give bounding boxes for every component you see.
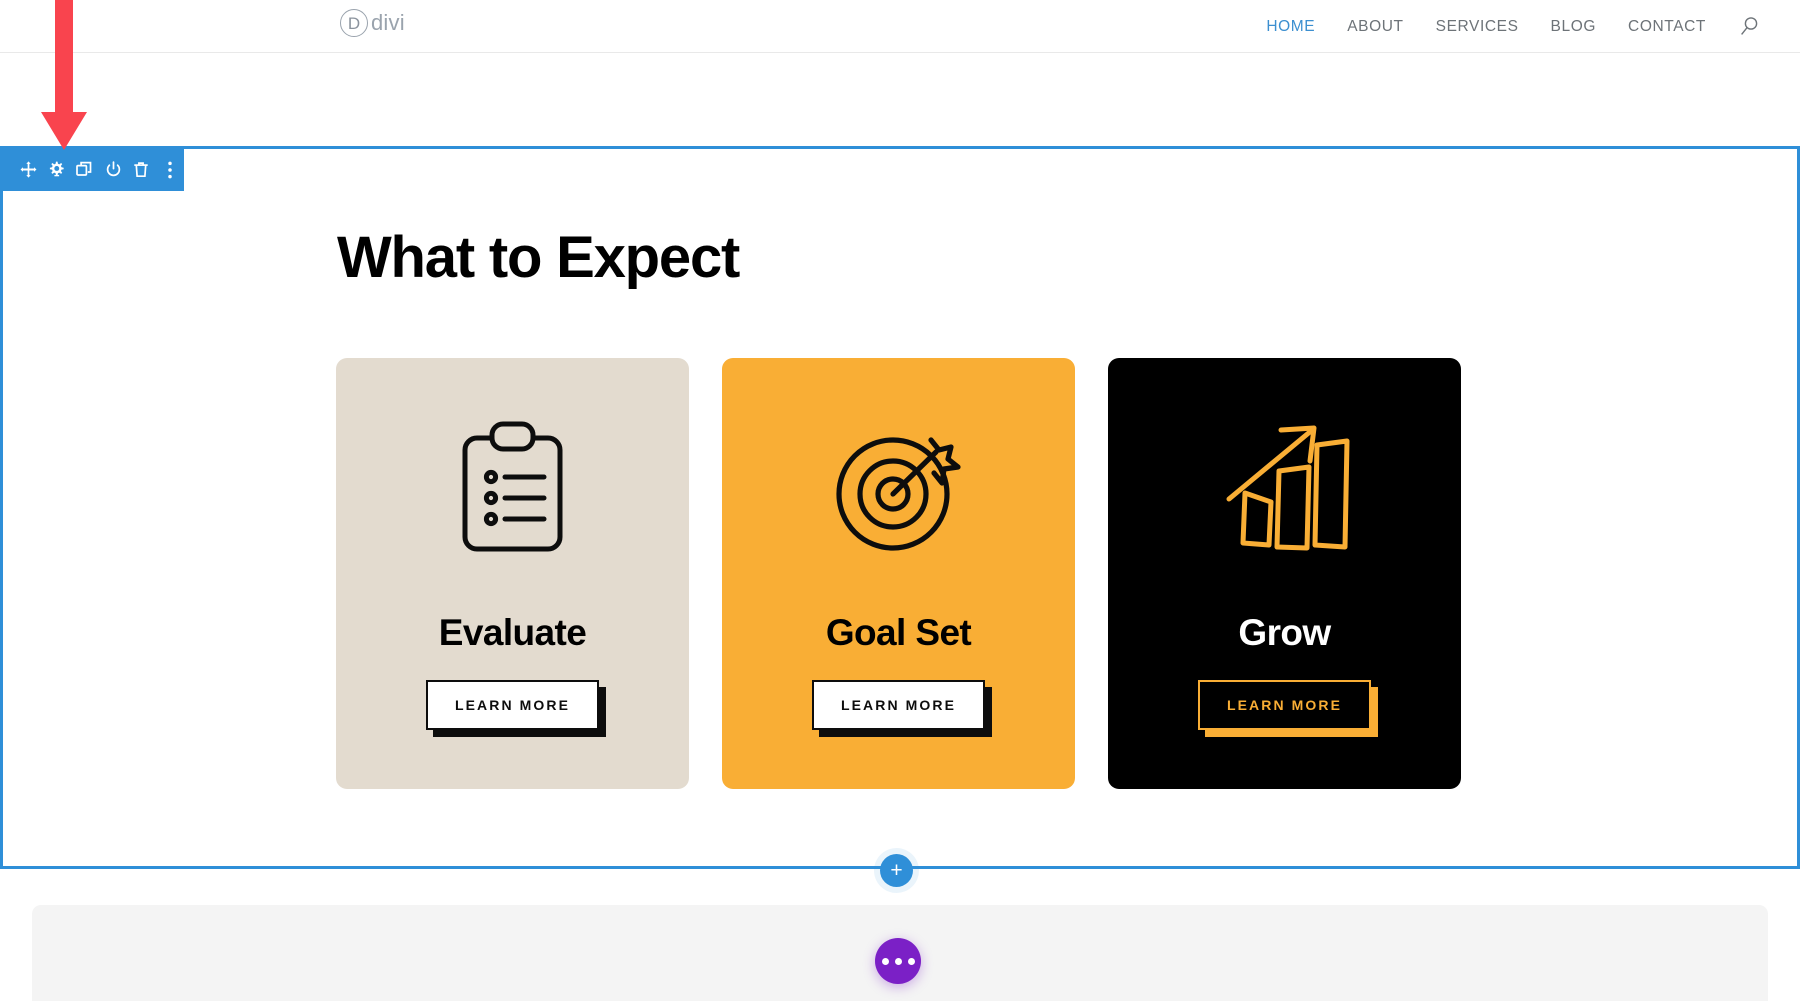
nav-item-contact[interactable]: CONTACT (1612, 18, 1722, 36)
card-evaluate[interactable]: Evaluate LEARN MORE (336, 358, 689, 789)
move-icon[interactable] (14, 148, 42, 191)
page-title: What to Expect (337, 226, 739, 290)
main-navigation: HOME ABOUT SERVICES BLOG CONTACT (1250, 0, 1772, 53)
clipboard-checklist-icon (455, 414, 570, 564)
learn-more-button[interactable]: LEARN MORE (426, 680, 599, 730)
target-arrow-icon (831, 414, 966, 564)
nav-item-services[interactable]: SERVICES (1420, 18, 1535, 36)
nav-item-about[interactable]: ABOUT (1331, 18, 1419, 36)
add-section-button[interactable]: + (880, 854, 913, 887)
divi-logo[interactable]: D divi (340, 9, 405, 37)
divi-logo-icon: D (340, 9, 368, 37)
learn-more-button[interactable]: LEARN MORE (812, 680, 985, 730)
ellipsis-horizontal-icon (895, 958, 902, 965)
power-icon[interactable] (99, 148, 127, 191)
card-goal-set[interactable]: Goal Set LEARN MORE (722, 358, 1075, 789)
ellipsis-vertical-icon[interactable] (156, 148, 184, 191)
search-icon[interactable] (1736, 14, 1762, 40)
ellipsis-horizontal-icon (882, 958, 889, 965)
ellipsis-horizontal-icon (908, 958, 915, 965)
card-title: Evaluate (439, 612, 586, 654)
card-grow[interactable]: Grow LEARN MORE (1108, 358, 1461, 789)
cards-row: Evaluate LEARN MORE Goal Set LEARN MORE (336, 358, 1461, 789)
card-title: Grow (1238, 612, 1330, 654)
growth-bar-chart-icon (1215, 414, 1355, 564)
section-toolbar (0, 148, 184, 191)
divi-builder-menu-button[interactable] (875, 938, 921, 984)
duplicate-icon[interactable] (71, 148, 99, 191)
plus-icon: + (890, 860, 902, 881)
card-title: Goal Set (826, 612, 971, 654)
trash-icon[interactable] (127, 148, 155, 191)
gear-icon[interactable] (42, 148, 70, 191)
nav-item-blog[interactable]: BLOG (1535, 18, 1612, 36)
nav-item-home[interactable]: HOME (1250, 18, 1331, 36)
learn-more-button[interactable]: LEARN MORE (1198, 680, 1371, 730)
divi-logo-text: divi (371, 10, 405, 36)
site-header: D divi HOME ABOUT SERVICES BLOG CONTACT (0, 0, 1800, 53)
